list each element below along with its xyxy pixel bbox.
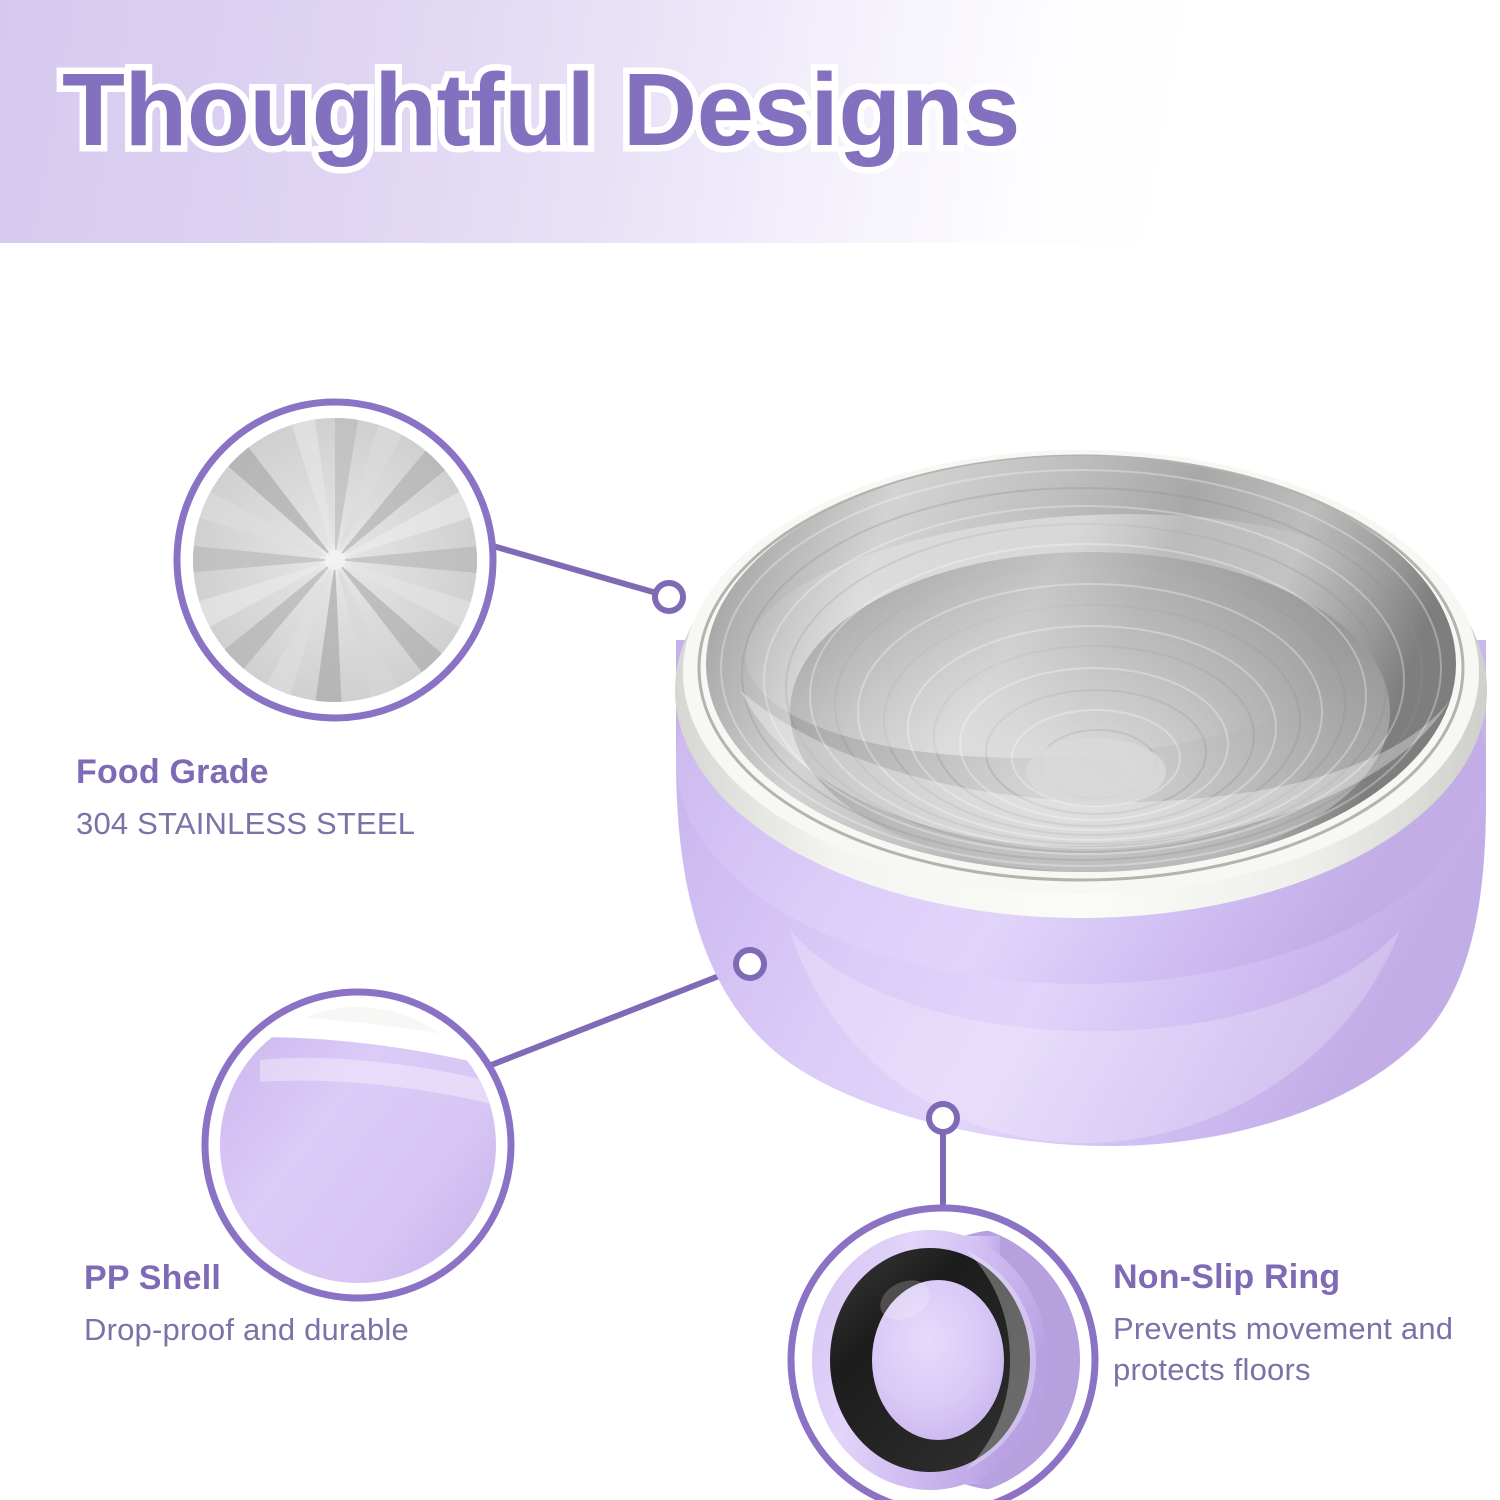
callout-subtitle-food-grade: 304 STAINLESS STEEL (76, 804, 415, 844)
callout-label-food-grade: Food Grade 304 STAINLESS STEEL (76, 753, 415, 845)
callout-circle-non-slip-ring[interactable] (791, 1208, 1118, 1500)
callout-title-non-slip-ring: Non-Slip Ring (1113, 1258, 1453, 1297)
callout-title-pp-shell: PP Shell (84, 1259, 409, 1298)
callout-label-non-slip-ring: Non-Slip Ring Prevents movement and prot… (1113, 1258, 1453, 1390)
callout-subtitle-pp-shell: Drop-proof and durable (84, 1310, 409, 1350)
callout-label-pp-shell: PP Shell Drop-proof and durable (84, 1259, 409, 1351)
leader-marker-food-grade (655, 583, 683, 611)
leader-line-pp-shell (481, 967, 742, 1069)
callout-circle-food-grade[interactable] (177, 402, 493, 718)
callout-subtitle-non-slip-ring: Prevents movement and protects floors (1113, 1309, 1453, 1390)
non-slip-base-ring-icon (812, 1230, 1118, 1490)
bowl-basin-center-glow (1026, 738, 1166, 806)
leader-marker-non-slip-ring (929, 1104, 957, 1132)
infographic-canvas: Thoughtful Designs (0, 0, 1500, 1500)
pet-bowl-product (675, 450, 1487, 1146)
callout-title-food-grade: Food Grade (76, 753, 415, 792)
leader-line-food-grade (493, 546, 660, 594)
leader-marker-pp-shell (736, 950, 764, 978)
